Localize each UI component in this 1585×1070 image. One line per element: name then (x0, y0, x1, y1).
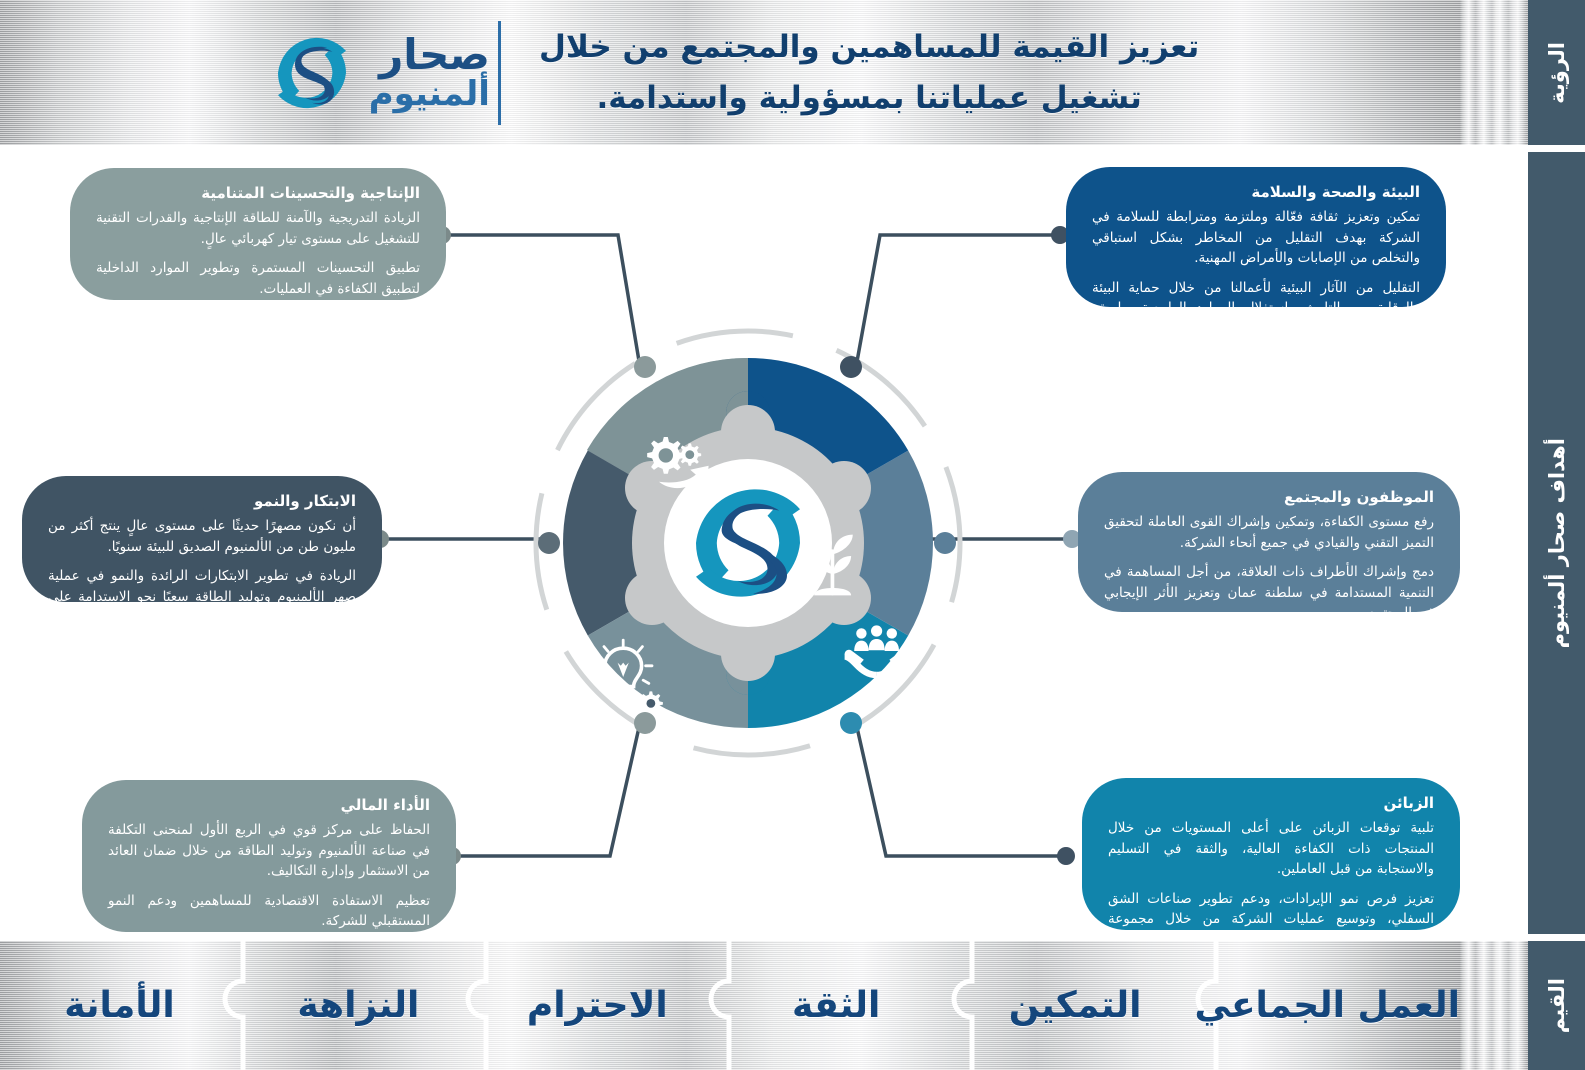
card-ehs[interactable]: البيئة والصحة والسلامة تمكين وتعزيز ثقاف… (1066, 167, 1446, 307)
sohar-s-swirl-logo-icon (261, 21, 363, 125)
card-people[interactable]: الموظفون والمجتمع رفع مستوى الكفاءة، وتم… (1078, 472, 1460, 612)
diagram-canvas: $ (0, 145, 1460, 941)
value-label-1: النزاهة (297, 985, 419, 1026)
rail-tab-goals[interactable]: أهداف صحار ألمنيوم (1528, 152, 1585, 934)
card-ehs-p1: تمكين وتعزيز ثقافة فعّالة وملتزمة ومتراب… (1092, 207, 1420, 269)
card-productivity-p1: الزيادة التدريجية والآمنة للطاقة الإنتاج… (96, 208, 420, 249)
infographic-page: تعزيز القيمة للمساهمين والمجتمع من خلال … (0, 0, 1585, 1070)
value-item-ihtiram[interactable]: الاحترام (478, 941, 717, 1070)
card-financial-p2: تعظيم الاستفادة الاقتصادية للمساهمين ودع… (108, 891, 430, 932)
value-item-tamkin[interactable]: التمكين (956, 941, 1195, 1070)
card-productivity[interactable]: الإنتاجية والتحسينات المتنامية الزيادة ا… (70, 168, 446, 300)
logo-wordmark: صحار ألمنيوم (369, 34, 490, 111)
logo-line-1: صحار (379, 34, 490, 76)
side-rail: الرؤية أهداف صحار ألمنيوم القيم (1460, 0, 1585, 1070)
card-financial-title: الأداء المالي (108, 796, 430, 814)
value-item-nazaha[interactable]: النزاهة (239, 941, 478, 1070)
rail-tab-goals-label: أهداف صحار ألمنيوم (1545, 438, 1569, 648)
header-divider (498, 21, 501, 125)
card-customers-p1: تلبية توقعات الزبائن على أعلى المستويات … (1108, 818, 1434, 880)
value-item-amana[interactable]: الأمانة (0, 941, 239, 1070)
rail-tab-values[interactable]: القيم (1528, 941, 1585, 1070)
dollar-cycle-icon: $ (652, 787, 722, 848)
card-customers[interactable]: الزبائن تلبية توقعات الزبائن على أعلى ال… (1082, 778, 1460, 930)
values-list: الأمانة النزاهة الاحترام الثقة التمكين ا… (0, 941, 1460, 1070)
value-label-3: الثقة (792, 985, 880, 1026)
value-item-teamwork[interactable]: العمل الجماعي (1195, 941, 1460, 1070)
card-people-p1: رفع مستوى الكفاءة، وتمكين وإشراك القوى ا… (1104, 512, 1434, 553)
vision-statement: تعزيز القيمة للمساهمين والمجتمع من خلال … (517, 22, 1199, 122)
value-label-4: التمكين (1009, 985, 1142, 1026)
card-productivity-title: الإنتاجية والتحسينات المتنامية (96, 184, 420, 202)
values-bar: الأمانة النزاهة الاحترام الثقة التمكين ا… (0, 941, 1460, 1070)
rail-metal-bottom (1460, 941, 1528, 1070)
value-item-thiqa[interactable]: الثقة (717, 941, 956, 1070)
card-customers-title: الزبائن (1108, 794, 1434, 812)
card-financial-p1: الحفاظ على مركز قوي في الربع الأول لمنحن… (108, 820, 430, 882)
card-people-p2: دمج وإشراك الأطراف ذات العلاقة، من أجل ا… (1104, 562, 1434, 624)
handshake-icon (791, 788, 866, 833)
card-ehs-p2: التقليل من الآثار البيئية لأعمالنا من خل… (1092, 278, 1420, 340)
header-banner: تعزيز القيمة للمساهمين والمجتمع من خلال … (0, 0, 1460, 145)
card-ehs-title: البيئة والصحة والسلامة (1092, 183, 1420, 201)
card-productivity-p2: تطبيق التحسينات المستمرة وتطوير الموارد … (96, 258, 420, 299)
rail-tab-vision-label: الرؤية (1545, 42, 1569, 104)
value-label-2: الاحترام (527, 985, 668, 1026)
rail-tab-vision[interactable]: الرؤية (1528, 0, 1585, 145)
card-innovation[interactable]: الابتكار والنمو أن نكون مصهرًا حديثًا عل… (22, 476, 382, 602)
rail-tab-values-label: القيم (1545, 978, 1569, 1033)
rail-metal-top (1460, 0, 1528, 145)
value-label-0: الأمانة (64, 985, 175, 1026)
card-innovation-p1: أن نكون مصهرًا حديثًا على مستوى عالٍ ينت… (48, 516, 356, 557)
company-logo: صحار ألمنيوم (261, 21, 498, 125)
value-label-5: العمل الجماعي (1195, 985, 1460, 1026)
logo-line-2: ألمنيوم (369, 77, 490, 111)
card-financial[interactable]: الأداء المالي الحفاظ على مركز قوي في الر… (82, 780, 456, 932)
svg-text:$: $ (678, 803, 697, 834)
card-innovation-title: الابتكار والنمو (48, 492, 356, 510)
card-innovation-p2: الريادة في تطوير الابتكارات الرائدة والن… (48, 566, 356, 628)
card-people-title: الموظفون والمجتمع (1104, 488, 1434, 506)
